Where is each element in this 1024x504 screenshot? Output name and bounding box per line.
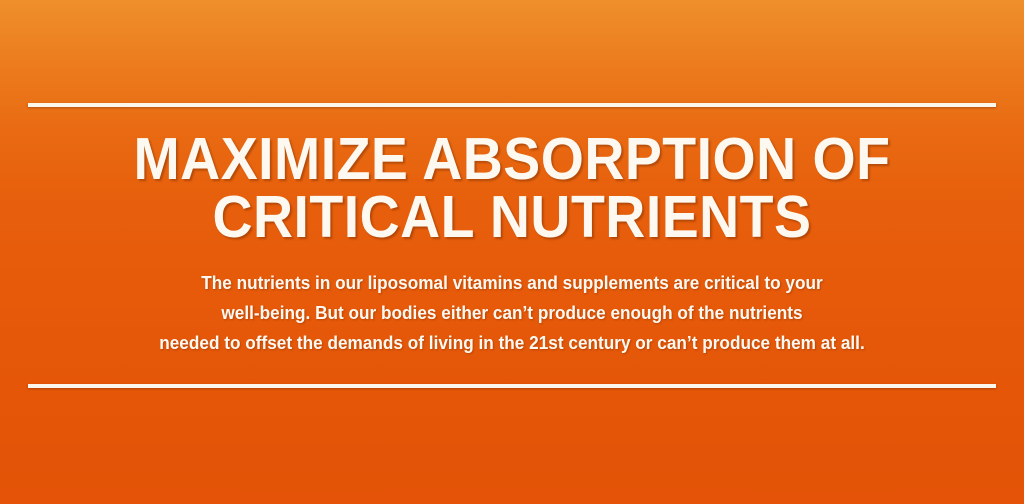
body-line-3: needed to offset the demands of living i…: [36, 328, 988, 358]
headline-line-2: CRITICAL NUTRIENTS: [31, 188, 994, 246]
divider-rule-top: [28, 103, 996, 107]
divider-rule-bottom: [28, 384, 996, 388]
body-line-1: The nutrients in our liposomal vitamins …: [36, 268, 988, 298]
body-line-2: well-being. But our bodies either can’t …: [36, 298, 988, 328]
headline-line-1: MAXIMIZE ABSORPTION OF: [31, 130, 994, 188]
page-title: MAXIMIZE ABSORPTION OF CRITICAL NUTRIENT…: [31, 130, 994, 246]
promo-banner: MAXIMIZE ABSORPTION OF CRITICAL NUTRIENT…: [0, 0, 1024, 504]
body-paragraph: The nutrients in our liposomal vitamins …: [36, 268, 988, 358]
